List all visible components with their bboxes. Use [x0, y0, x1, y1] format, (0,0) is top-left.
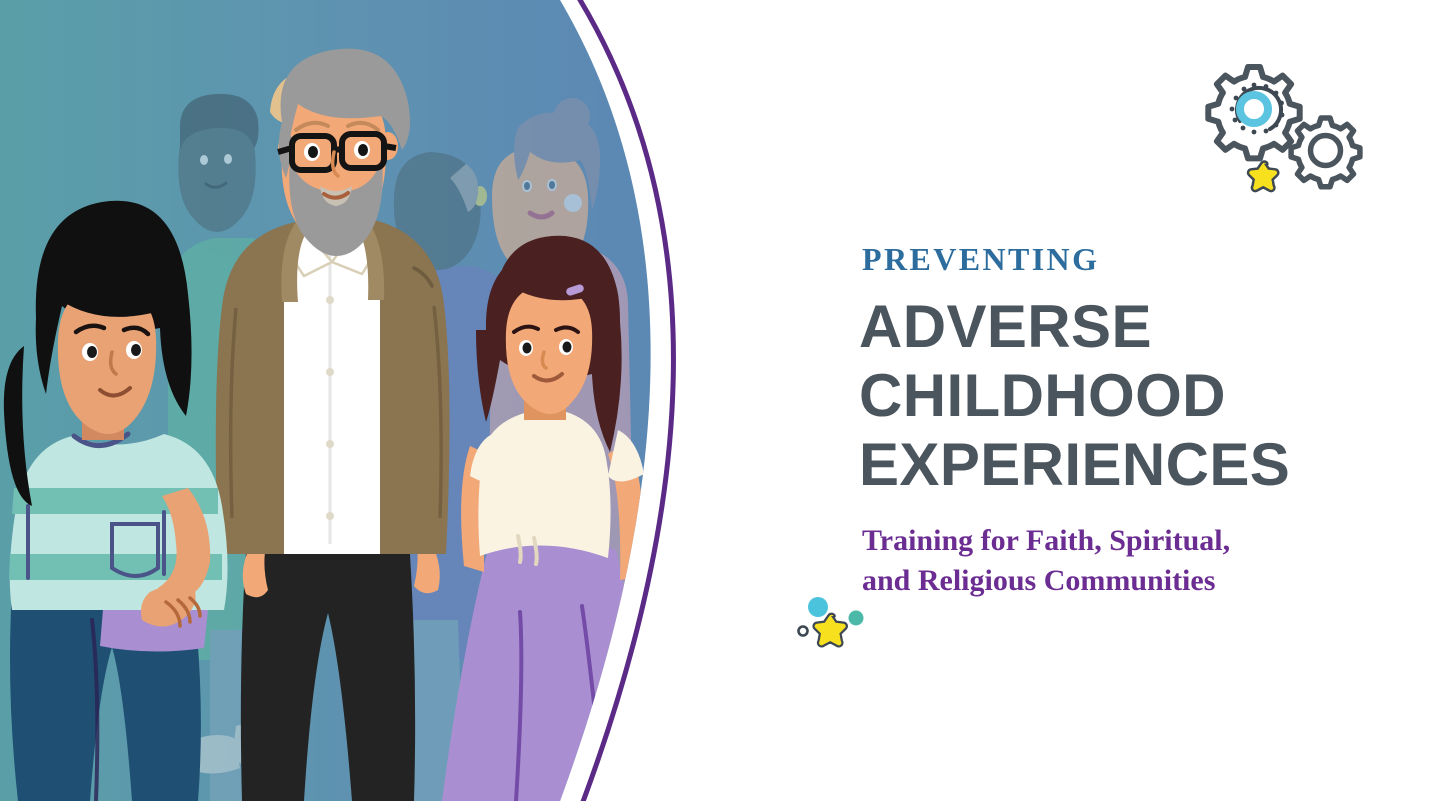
community-group-illustration: [0, 0, 720, 801]
subtitle: Training for Faith, Spiritual, and Relig…: [862, 521, 1230, 601]
gears-decoration: [1196, 55, 1376, 205]
slide-root: PREVENTING ADVERSE CHILDHOOD EXPERIENCES…: [0, 0, 1440, 801]
title-line-2: CHILDHOOD: [859, 361, 1290, 430]
medium-dot-icon: [849, 611, 864, 626]
subtitle-line-1: Training for Faith, Spiritual,: [862, 521, 1230, 561]
dots-decoration: [786, 590, 876, 650]
eyebrow-text: PREVENTING: [862, 243, 1099, 275]
large-gear-icon: [1208, 67, 1299, 158]
subtitle-line-2: and Religious Communities: [862, 561, 1230, 601]
illustration-body: [0, 0, 720, 801]
gear-inner-circle: [1240, 95, 1268, 123]
star-icon: [815, 615, 846, 645]
title-line-1: ADVERSE: [859, 292, 1290, 361]
title-line-3: EXPERIENCES: [859, 430, 1290, 499]
outline-dot-icon: [799, 627, 808, 636]
star-icon: [1249, 163, 1277, 190]
large-dot-icon: [808, 597, 828, 617]
small-gear-icon: [1291, 118, 1360, 187]
page-title: ADVERSE CHILDHOOD EXPERIENCES: [859, 292, 1290, 499]
